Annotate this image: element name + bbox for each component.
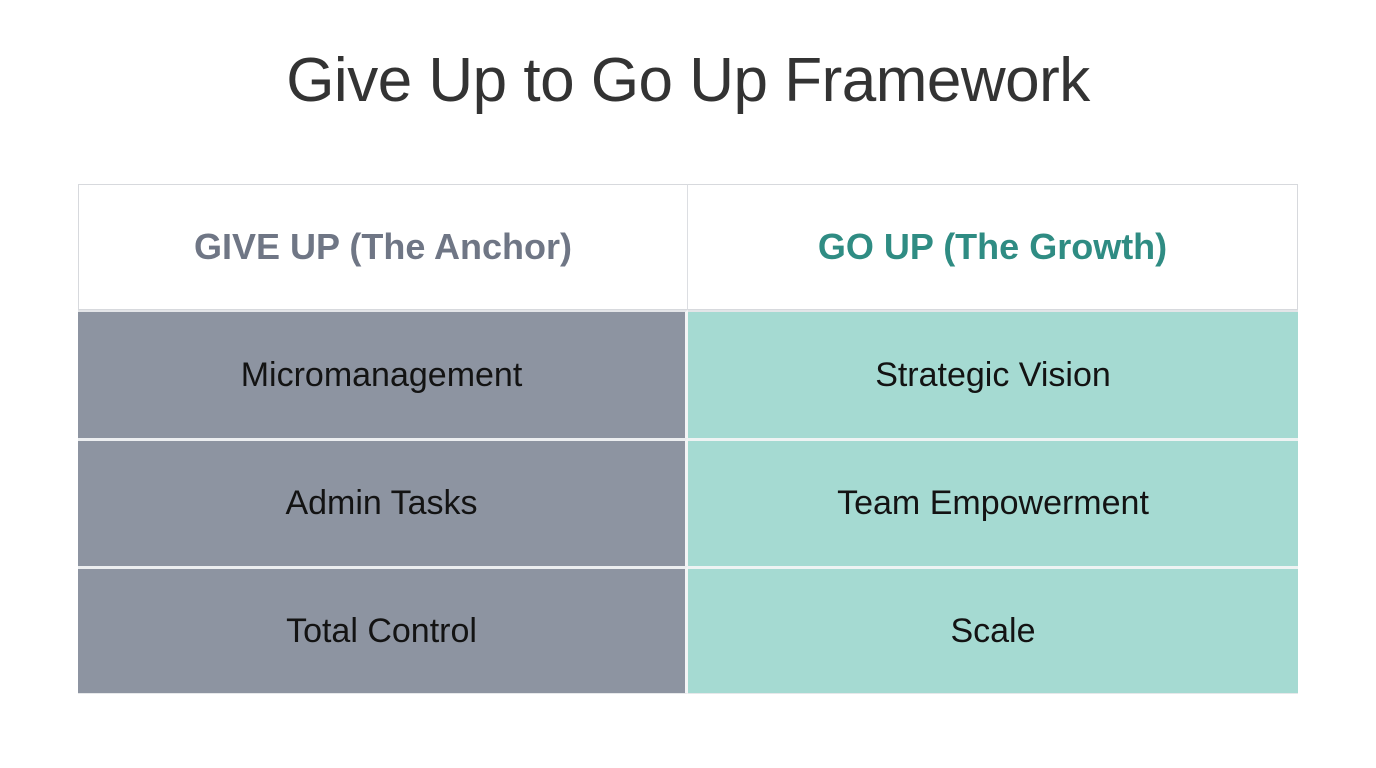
cell-give-up: Admin Tasks <box>78 438 688 566</box>
table-head: GIVE UP (The Anchor) GO UP (The Growth) <box>78 184 1298 310</box>
slide-canvas: Give Up to Go Up Framework GIVE UP (The … <box>0 0 1376 768</box>
table-row: Total Control Scale <box>78 566 1298 694</box>
framework-table: GIVE UP (The Anchor) GO UP (The Growth) … <box>78 184 1298 694</box>
table-header-row: GIVE UP (The Anchor) GO UP (The Growth) <box>78 184 1298 310</box>
table-row: Micromanagement Strategic Vision <box>78 310 1298 438</box>
cell-go-up: Scale <box>688 566 1298 694</box>
cell-go-up: Team Empowerment <box>688 438 1298 566</box>
table-body: Micromanagement Strategic Vision Admin T… <box>78 310 1298 694</box>
cell-give-up: Micromanagement <box>78 310 688 438</box>
page-title: Give Up to Go Up Framework <box>0 50 1376 112</box>
table-row: Admin Tasks Team Empowerment <box>78 438 1298 566</box>
cell-go-up: Strategic Vision <box>688 310 1298 438</box>
column-header-give-up: GIVE UP (The Anchor) <box>78 184 688 310</box>
cell-give-up: Total Control <box>78 566 688 694</box>
column-header-go-up: GO UP (The Growth) <box>688 184 1298 310</box>
